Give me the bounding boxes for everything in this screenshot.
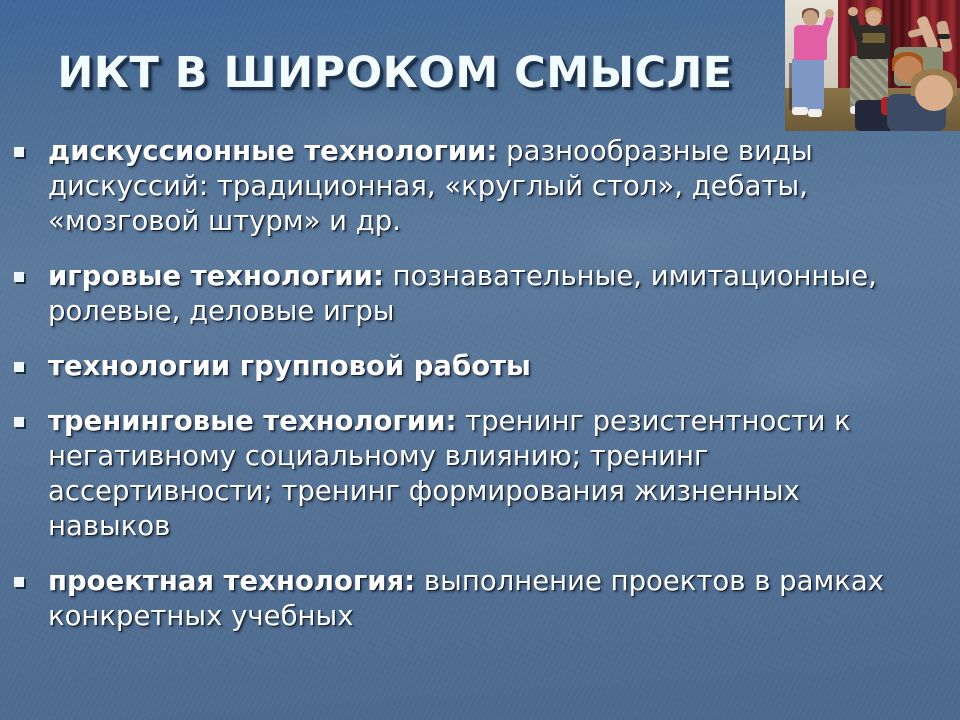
bullet-lead: тренинговые технологии:	[48, 405, 456, 437]
list-item: игровые технологии: познавательные, имит…	[0, 259, 960, 329]
photo-scene	[785, 0, 960, 131]
slide-title-area: ИКТ В ШИРОКОМ СМЫСЛЕ	[0, 48, 790, 98]
photo-boy-shirt-print	[862, 33, 885, 43]
bullet-lead: проектная технология:	[48, 565, 415, 597]
bullet-text: тренинговые технологии: тренинг резистен…	[48, 404, 960, 544]
photo-girl-shoe-left	[792, 107, 808, 115]
bullet-lead: технологии групповой работы	[48, 350, 531, 382]
square-bullet-icon	[14, 362, 24, 372]
square-bullet-icon	[14, 272, 24, 282]
bullet-text: дискуссионные технологии: разнообразные …	[48, 134, 960, 239]
presentation-slide: ИКТ В ШИРОКОМ СМЫСЛЕ	[0, 0, 960, 720]
bullet-list: дискуссионные технологии: разнообразные …	[0, 134, 960, 654]
list-item: дискуссионные технологии: разнообразные …	[0, 134, 960, 239]
photo-girl-legs	[792, 58, 824, 110]
list-item: технологии групповой работы	[0, 349, 960, 384]
page-title: ИКТ В ШИРОКОМ СМЫСЛЕ	[57, 48, 732, 98]
classroom-photo	[785, 0, 960, 131]
bullet-lead: дискуссионные технологии:	[48, 135, 497, 167]
photo-wristwatch	[937, 34, 949, 39]
bullet-text: технологии групповой работы	[48, 349, 960, 384]
bullet-text: игровые технологии: познавательные, имит…	[48, 259, 960, 329]
square-bullet-icon	[14, 147, 24, 157]
square-bullet-icon	[14, 417, 24, 427]
bullet-text: проектная технология: выполнение проекто…	[48, 564, 960, 634]
list-item: тренинговые технологии: тренинг резистен…	[0, 404, 960, 544]
photo-foreground-head	[915, 75, 954, 112]
square-bullet-icon	[14, 577, 24, 587]
bullet-lead: игровые технологии:	[48, 260, 384, 292]
photo-boy-hand	[848, 7, 858, 16]
photo-girl-shoe-right	[808, 109, 822, 117]
list-item: проектная технология: выполнение проекто…	[0, 564, 960, 634]
